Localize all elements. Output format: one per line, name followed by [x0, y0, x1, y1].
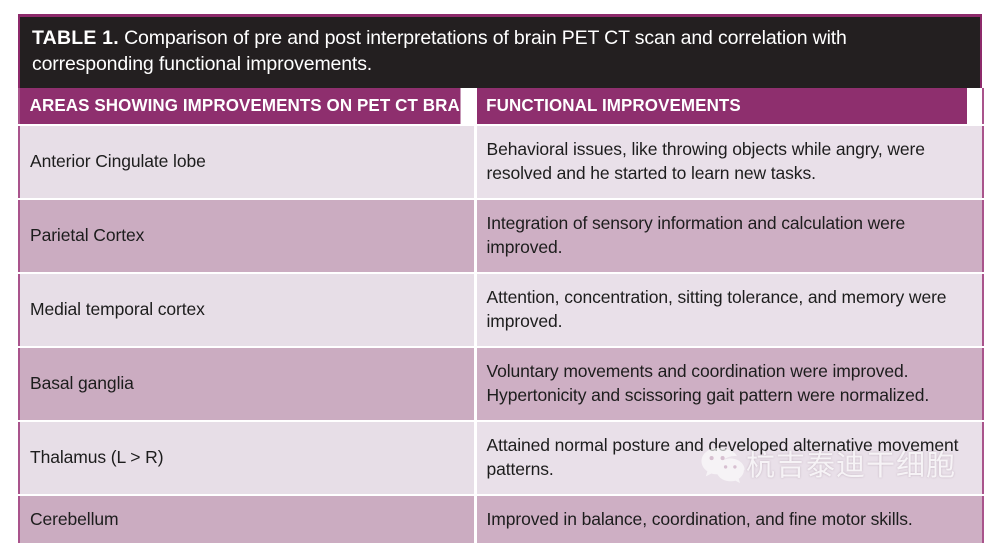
cell-improvement: Voluntary movements and coordination wer… [475, 347, 983, 421]
page-canvas: TABLE 1. Comparison of pre and post inte… [0, 0, 1000, 509]
column-header-areas: AREAS SHOWING IMPROVEMENTS ON PET CT BRA… [19, 88, 461, 125]
cell-area: Basal ganglia [19, 347, 475, 421]
table-row: Cerebellum Improved in balance, coordina… [19, 495, 983, 545]
table-caption-text: Comparison of pre and post interpretatio… [32, 27, 847, 75]
cell-area: Thalamus (L > R) [19, 421, 475, 495]
cell-improvement: Attention, concentration, sitting tolera… [475, 273, 983, 347]
table-row: Medial temporal cortex Attention, concen… [19, 273, 983, 347]
comparison-table: AREAS SHOWING IMPROVEMENTS ON PET CT BRA… [18, 88, 984, 545]
table-row: Thalamus (L > R) Attained normal posture… [19, 421, 983, 495]
table-header: AREAS SHOWING IMPROVEMENTS ON PET CT BRA… [19, 88, 983, 125]
table-caption-label: TABLE 1. [32, 27, 119, 49]
table-1-block: TABLE 1. Comparison of pre and post inte… [18, 14, 982, 545]
cell-area: Medial temporal cortex [19, 273, 475, 347]
cell-area: Anterior Cingulate lobe [19, 125, 475, 199]
table-row: Parietal Cortex Integration of sensory i… [19, 199, 983, 273]
cell-improvement: Improved in balance, coordination, and f… [475, 495, 983, 545]
cell-improvement: Attained normal posture and developed al… [475, 421, 983, 495]
table-header-row: AREAS SHOWING IMPROVEMENTS ON PET CT BRA… [19, 88, 983, 125]
cell-improvement: Behavioral issues, like throwing objects… [475, 125, 983, 199]
table-body: Anterior Cingulate lobe Behavioral issue… [19, 125, 983, 545]
table-caption: TABLE 1. Comparison of pre and post inte… [18, 14, 982, 88]
cell-area: Cerebellum [19, 495, 475, 545]
cell-improvement: Integration of sensory information and c… [475, 199, 983, 273]
cell-area: Parietal Cortex [19, 199, 475, 273]
table-row: Anterior Cingulate lobe Behavioral issue… [19, 125, 983, 199]
column-header-functional-improvements: FUNCTIONAL IMPROVEMENTS [475, 88, 968, 125]
table-row: Basal ganglia Voluntary movements and co… [19, 347, 983, 421]
